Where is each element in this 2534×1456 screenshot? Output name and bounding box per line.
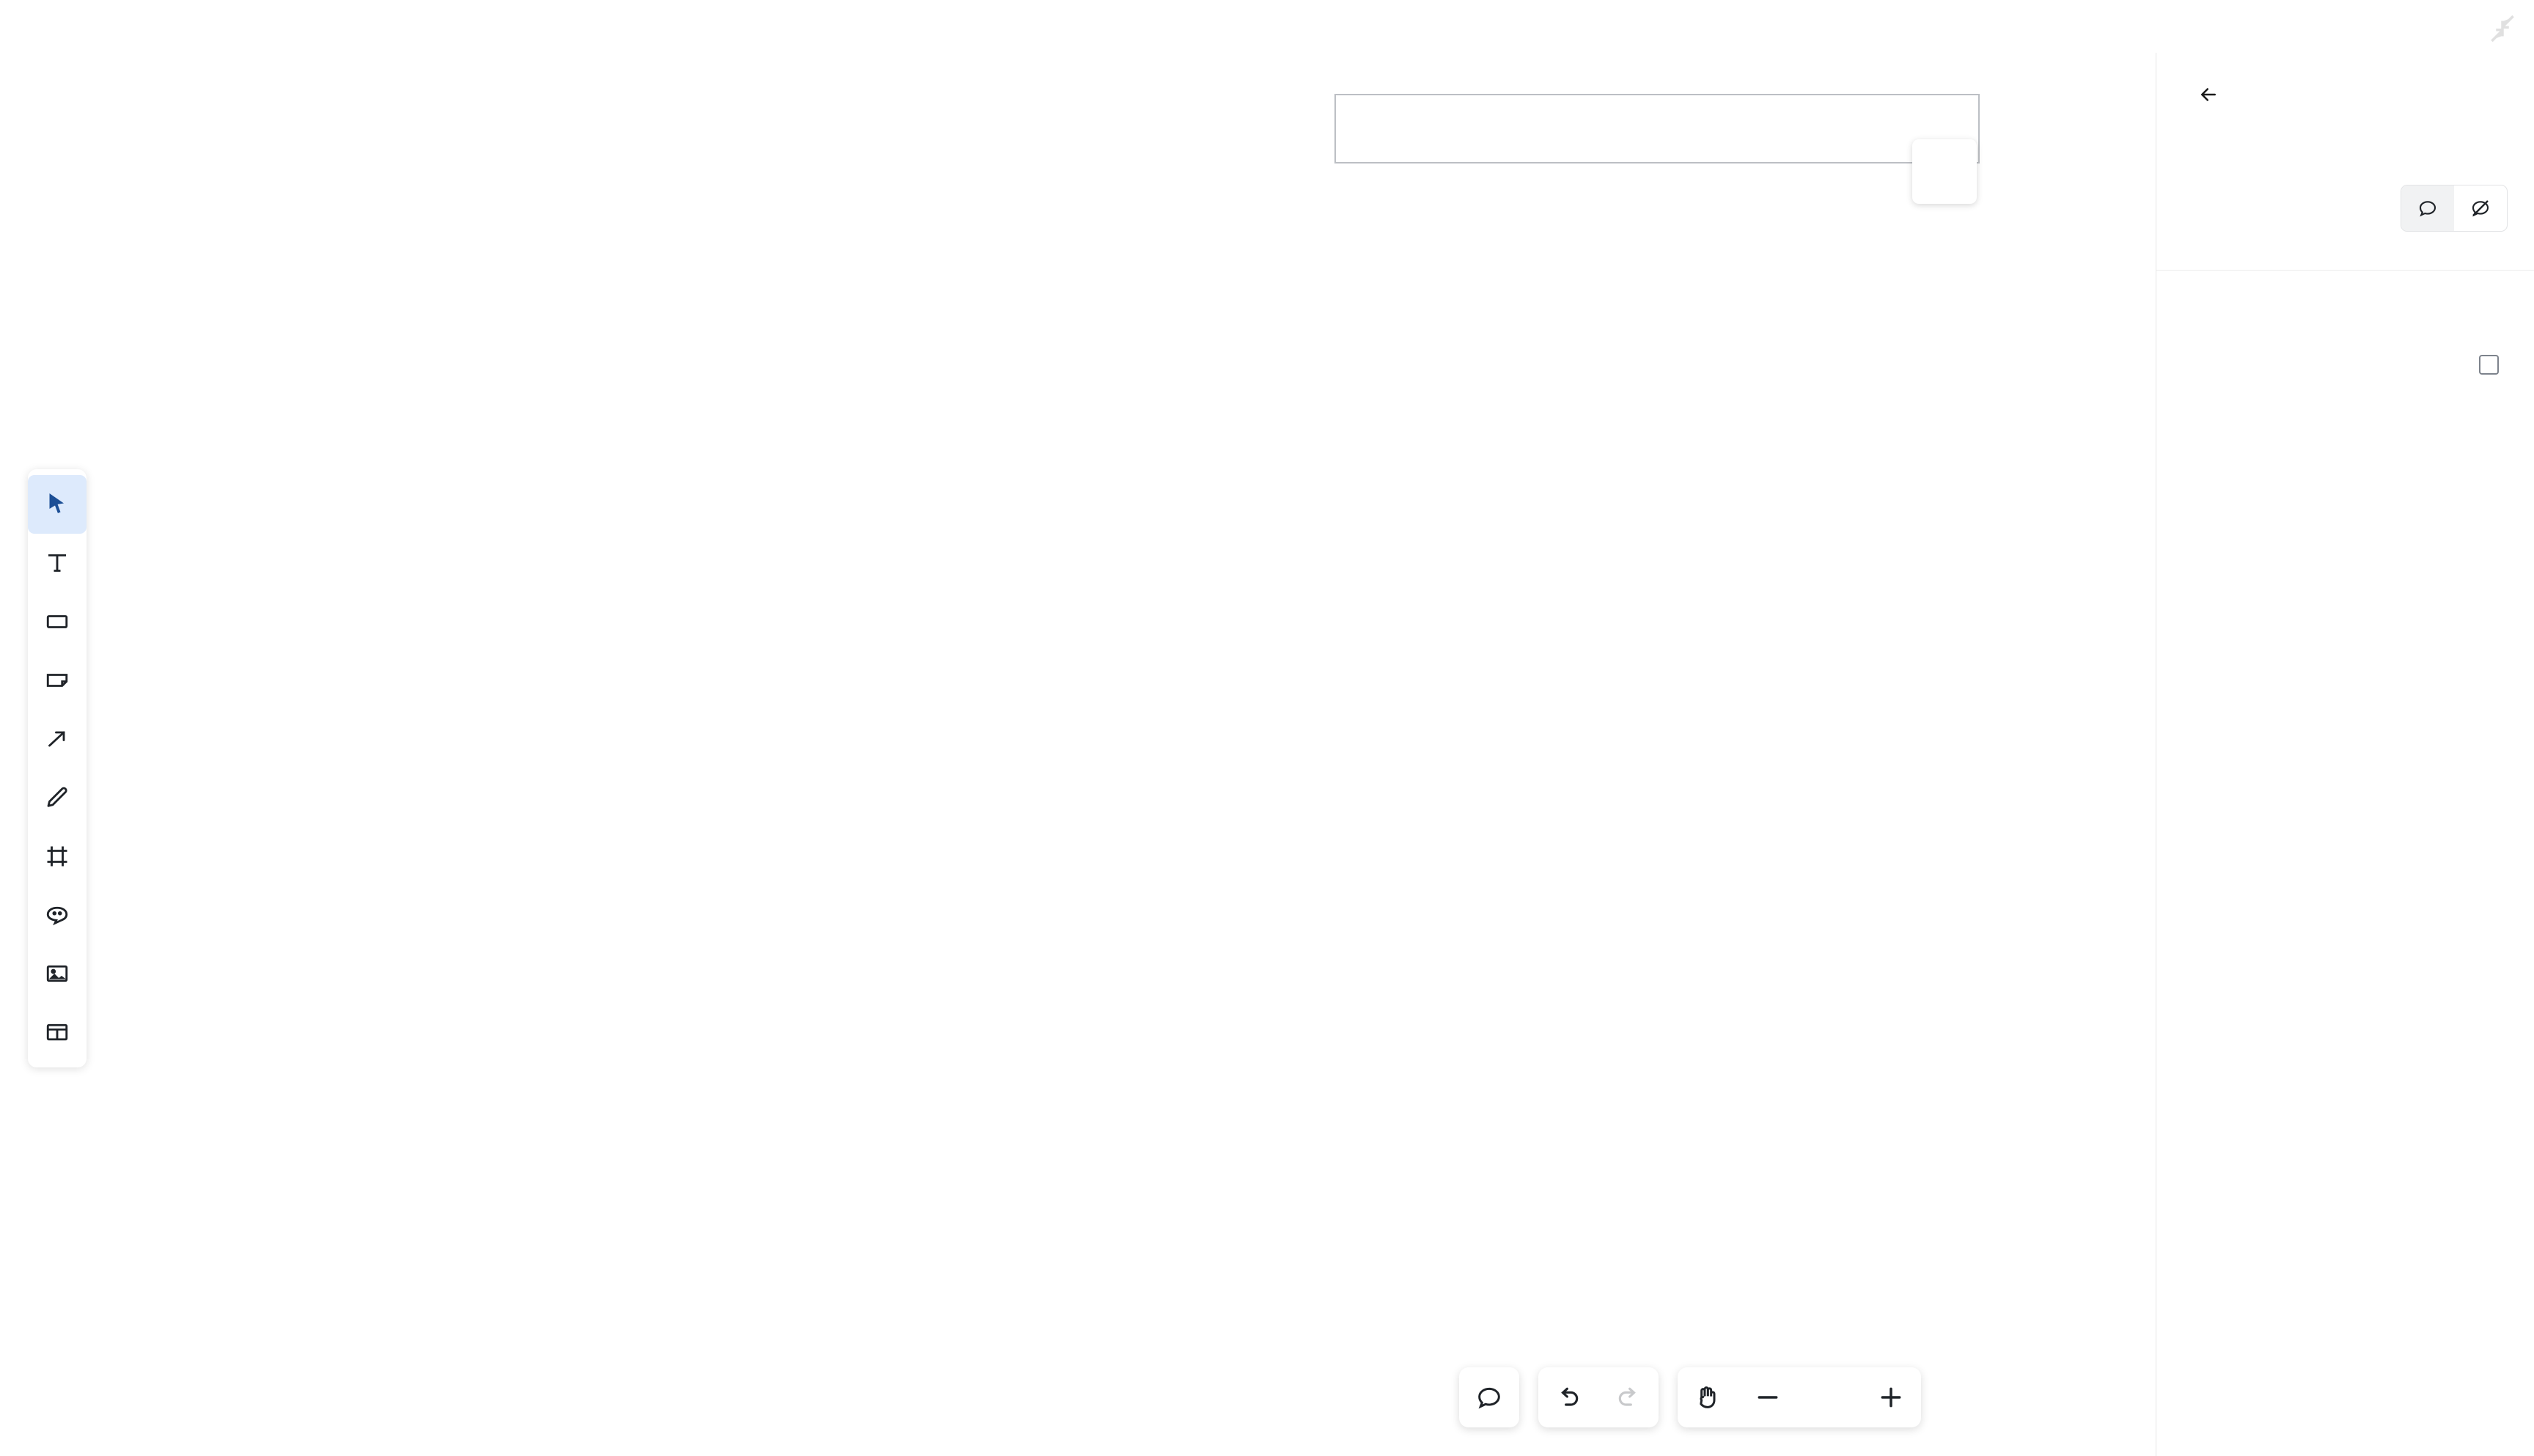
whiteboard-app (0, 0, 2534, 1456)
comments-panel (2156, 53, 2534, 1456)
expand-panel-button[interactable] (1912, 139, 1977, 204)
comment-group (1459, 1367, 1519, 1427)
frame-tool[interactable] (28, 827, 87, 886)
hand-icon[interactable] (1678, 1367, 1738, 1427)
zoom-out-button[interactable] (1738, 1367, 1798, 1427)
comment-bubble-off-icon[interactable] (2454, 185, 2507, 231)
bottom-toolbar (1459, 1367, 1921, 1427)
whiteboard-canvas[interactable] (144, 227, 1977, 1336)
undo-icon[interactable] (1538, 1367, 1598, 1427)
pencil-tool[interactable] (28, 768, 87, 827)
text-tool[interactable] (28, 534, 87, 592)
zoom-in-button[interactable] (1861, 1367, 1921, 1427)
comment-bubble-icon[interactable] (2401, 185, 2454, 231)
history-group (1538, 1367, 1659, 1427)
rectangle-tool[interactable] (28, 592, 87, 651)
zoom-group (1678, 1367, 1921, 1427)
select-tool[interactable] (28, 475, 87, 534)
layout-tool[interactable] (28, 1003, 87, 1062)
tool-rail (28, 469, 87, 1067)
arrow-tool[interactable] (28, 710, 87, 768)
arrow-left-icon (2197, 84, 2219, 106)
show-resolved-checkbox[interactable] (2479, 355, 2499, 375)
collapse-icon[interactable] (2487, 13, 2518, 44)
image-tool[interactable] (28, 944, 87, 1003)
emoji-tool[interactable] (28, 886, 87, 944)
redo-icon[interactable] (1598, 1367, 1659, 1427)
back-to-menu-button[interactable] (2197, 84, 2231, 106)
sticky-note-tool[interactable] (28, 651, 87, 710)
top-bar (0, 0, 2534, 65)
comments-visibility-toggle (2401, 185, 2508, 232)
comment-icon[interactable] (1459, 1367, 1519, 1427)
panel-divider (2156, 270, 2534, 271)
value-proposition-field[interactable] (1334, 94, 1980, 163)
show-resolved-toggle[interactable] (2479, 355, 2508, 375)
